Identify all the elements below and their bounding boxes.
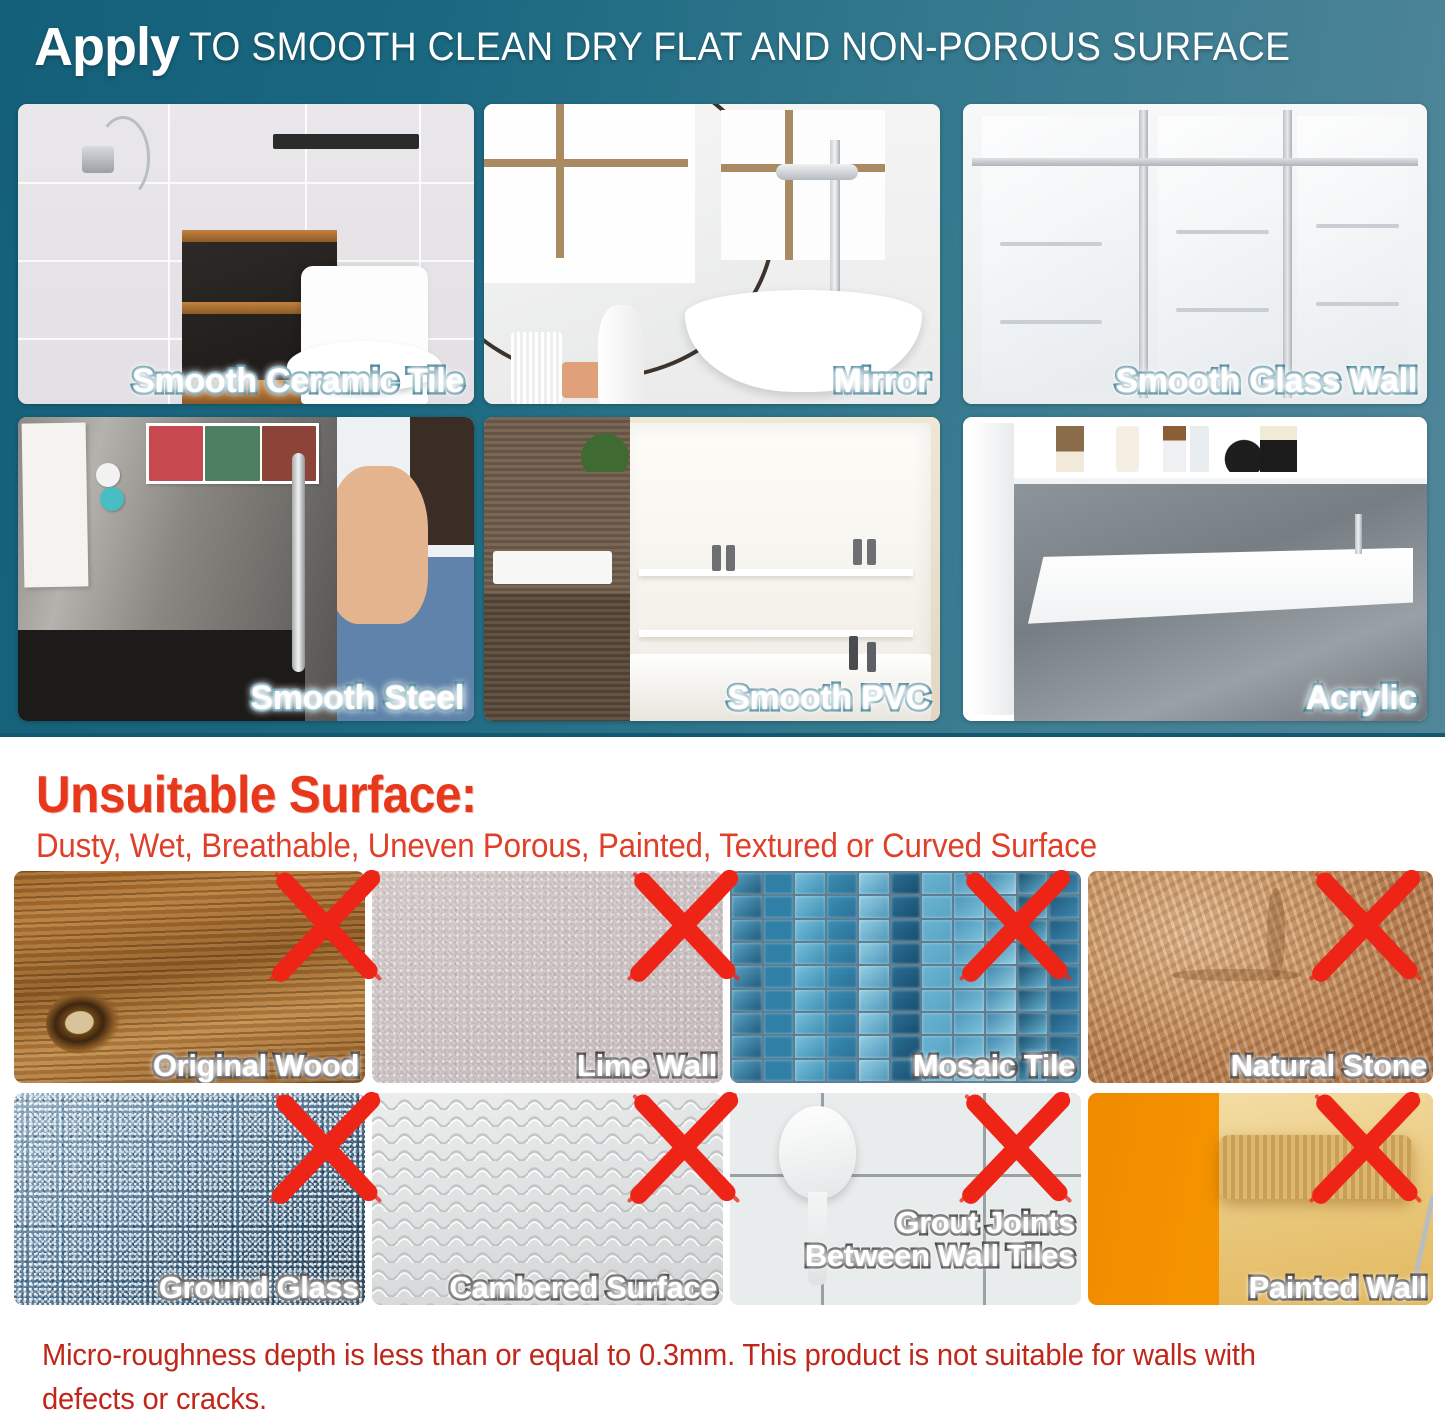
apply-tile-acrylic: Acrylic [963, 417, 1427, 721]
apply-tile-caption: Smooth Ceramic Tile [132, 362, 464, 400]
acrylic-bath-photo [963, 417, 1427, 721]
apply-tile-mirror: Mirror [484, 104, 940, 404]
unsuitable-tile-caption: Lime Wall [577, 1050, 717, 1081]
grout-joints-photo [730, 1093, 1081, 1305]
unsuitable-tile-lime-wall: Lime Wall [372, 871, 723, 1083]
unsuitable-tile-original-wood: Original Wood [14, 871, 365, 1083]
unsuitable-tile-mosaic-tile: Mosaic Tile [730, 871, 1081, 1083]
unsuitable-title: Unsuitable Surface: [36, 765, 477, 825]
apply-tile-caption: Acrylic [1306, 679, 1417, 717]
unsuitable-subtitle: Dusty, Wet, Breathable, Uneven Porous, P… [36, 827, 1097, 866]
unsuitable-tile-cambered-surface: Cambered Surface [372, 1093, 723, 1305]
mirror-bathroom-photo [484, 104, 940, 404]
unsuitable-tile-caption: Mosaic Tile [913, 1050, 1075, 1081]
unsuitable-tile-caption: Ground Glass [159, 1272, 359, 1303]
unsuitable-tile-caption: Original Wood [153, 1050, 359, 1081]
apply-tile-caption: Smooth PVC [727, 679, 930, 717]
apply-tile-smooth-ceramic-tile: Smooth Ceramic Tile [18, 104, 474, 404]
unsuitable-tile-caption: Painted Wall [1249, 1272, 1427, 1303]
pvc-shower-photo [484, 417, 940, 721]
grout-caption-line2: Between Wall Tiles [735, 1240, 1075, 1273]
glass-shower-photo [963, 104, 1427, 404]
apply-tile-smooth-pvc: Smooth PVC [484, 417, 940, 721]
footnote-text: Micro-roughness depth is less than or eq… [42, 1333, 1320, 1421]
unsuitable-section: Unsuitable Surface: Dusty, Wet, Breathab… [0, 741, 1445, 1409]
unsuitable-tile-caption-grout: Grout Joints Between Wall Tiles [735, 1207, 1075, 1272]
unsuitable-tile-grout-joints [730, 1093, 1081, 1305]
steel-fridge-photo [18, 417, 474, 721]
apply-tile-smooth-steel: Smooth Steel [18, 417, 474, 721]
apply-heading: ApplyTO SMOOTH CLEAN DRY FLAT AND NON-PO… [34, 14, 1373, 80]
apply-heading-keyword: Apply [34, 17, 179, 77]
unsuitable-tile-caption: Cambered Surface [449, 1272, 717, 1303]
unsuitable-tile-caption: Natural Stone [1231, 1050, 1427, 1081]
unsuitable-tile-ground-glass: Ground Glass [14, 1093, 365, 1305]
unsuitable-tile-painted-wall: Painted Wall [1088, 1093, 1433, 1305]
ceramic-bathroom-photo [18, 104, 474, 404]
apply-tile-caption: Smooth Steel [250, 679, 464, 717]
grout-caption-line1: Grout Joints [735, 1207, 1075, 1240]
apply-tile-caption: Mirror [834, 362, 930, 400]
apply-tile-caption: Smooth Glass Wall [1115, 362, 1417, 400]
apply-section: ApplyTO SMOOTH CLEAN DRY FLAT AND NON-PO… [0, 0, 1445, 737]
apply-tile-smooth-glass-wall: Smooth Glass Wall [963, 104, 1427, 404]
unsuitable-tile-natural-stone: Natural Stone [1088, 871, 1433, 1083]
apply-heading-rest: TO SMOOTH CLEAN DRY FLAT AND NON-POROUS … [189, 14, 1290, 80]
